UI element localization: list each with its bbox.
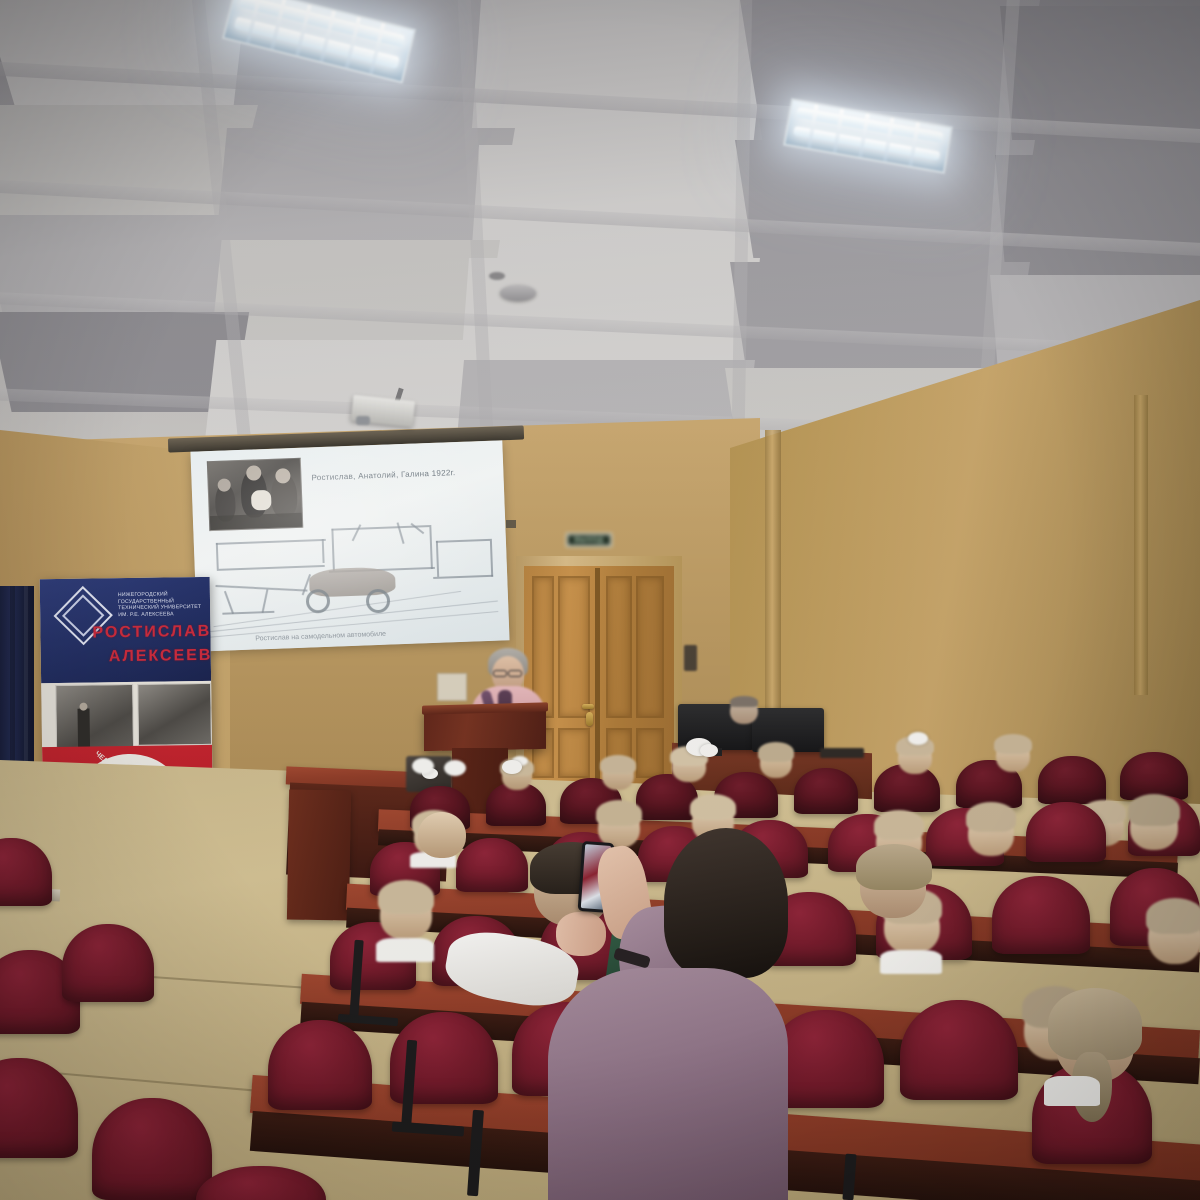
wall-mounted-plaque (437, 673, 467, 701)
door-handle[interactable] (582, 704, 594, 709)
slide-caption-top: Ростислав, Анатолий, Галина 1922г. (311, 468, 455, 482)
sketch-wheel (366, 589, 391, 614)
banner-archive-photo (137, 683, 212, 746)
presenter-glasses (493, 670, 507, 677)
student-hair (596, 800, 642, 826)
hair-bow (700, 744, 718, 757)
auditorium-seat[interactable] (1026, 802, 1106, 862)
auditorium-seat[interactable] (1120, 752, 1188, 800)
student-hair (600, 755, 636, 774)
student-collar (1044, 1076, 1100, 1106)
banner-photo-figure (78, 709, 91, 749)
banner-photo-figure-head (79, 703, 87, 711)
hair-bow (412, 758, 434, 774)
slide-family-photo (207, 458, 304, 531)
door-handle[interactable] (586, 712, 593, 726)
auditorium-seat[interactable] (992, 876, 1090, 954)
door-panel (558, 576, 590, 718)
wall-switch-panel[interactable] (684, 645, 697, 671)
photographer-hair (664, 828, 788, 978)
side-cabinet (287, 789, 351, 920)
auditorium-seat[interactable] (1038, 756, 1106, 804)
hair-bow (908, 732, 928, 745)
slide-sketch (203, 519, 499, 634)
auditorium-photo: Ростислав, Анатолий, Галина 1922г. (0, 0, 1200, 1200)
student-hair (1146, 898, 1200, 934)
banner-university-line2: ТЕХНИЧЕСКИЙ УНИВЕРСИТЕТ (118, 604, 208, 612)
hair-bow (502, 760, 522, 774)
hand (556, 912, 606, 956)
auditorium-seat[interactable] (268, 1020, 372, 1110)
slide-caption-bottom: Ростислав на самодельном автомобиле (255, 631, 386, 643)
screen-mount-bracket (506, 520, 516, 528)
ceiling-vent (489, 272, 505, 280)
ceiling-coffer (210, 240, 500, 355)
exit-sign: ВЫХОД (566, 533, 612, 547)
student-hair (994, 734, 1032, 754)
slide-content: Ростислав, Анатолий, Галина 1922г. (190, 440, 509, 651)
student-head (418, 812, 466, 858)
auditorium-seat[interactable] (900, 1000, 1018, 1100)
entrance-door[interactable] (524, 566, 674, 784)
projection-screen: Ростислав, Анатолий, Галина 1922г. (190, 440, 509, 651)
projector-lens (356, 416, 370, 425)
student-hair (1128, 794, 1180, 826)
exit-sign-label: ВЫХОД (574, 537, 603, 544)
student-hair (758, 742, 794, 762)
student-collar (376, 938, 434, 962)
banner-headline-line1: РОСТИСЛАВ (92, 623, 211, 643)
wall-pilaster (1134, 395, 1148, 695)
student-hair (378, 880, 434, 914)
banner-university-line1: НИЖЕГОРОДСКИЙ ГОСУДАРСТВЕННЫЙ (118, 591, 208, 605)
control-equipment (820, 748, 864, 758)
auditorium-seat[interactable] (794, 768, 858, 814)
presenter-glasses (508, 670, 522, 677)
student-hair (874, 810, 924, 840)
student-hair (690, 794, 736, 820)
door-panel (606, 576, 632, 718)
auditorium-seat[interactable] (92, 1098, 212, 1200)
student-collar (880, 950, 942, 974)
banner-headline-line2: АЛЕКСЕЕВ (109, 647, 213, 666)
student-hair (966, 802, 1016, 832)
technician-hair (730, 696, 758, 707)
ceiling-coffer (470, 0, 770, 156)
door-panel (558, 728, 590, 778)
banner-university-line3: ИМ. Р.Е. АЛЕКСЕЕВА (118, 610, 208, 618)
door-panel (636, 728, 664, 778)
auditorium-seat[interactable] (62, 924, 154, 1002)
auditorium-seat[interactable] (456, 838, 528, 892)
door-center-stile (595, 568, 600, 782)
adult-hair (856, 844, 932, 890)
photographer-torso (548, 968, 788, 1200)
banner-university-name: НИЖЕГОРОДСКИЙ ГОСУДАРСТВЕННЫЙ ТЕХНИЧЕСКИ… (118, 591, 208, 618)
smoke-detector (500, 285, 536, 301)
hair-bow (444, 760, 466, 776)
door-panel (636, 576, 664, 718)
girl-hair (1048, 988, 1142, 1060)
